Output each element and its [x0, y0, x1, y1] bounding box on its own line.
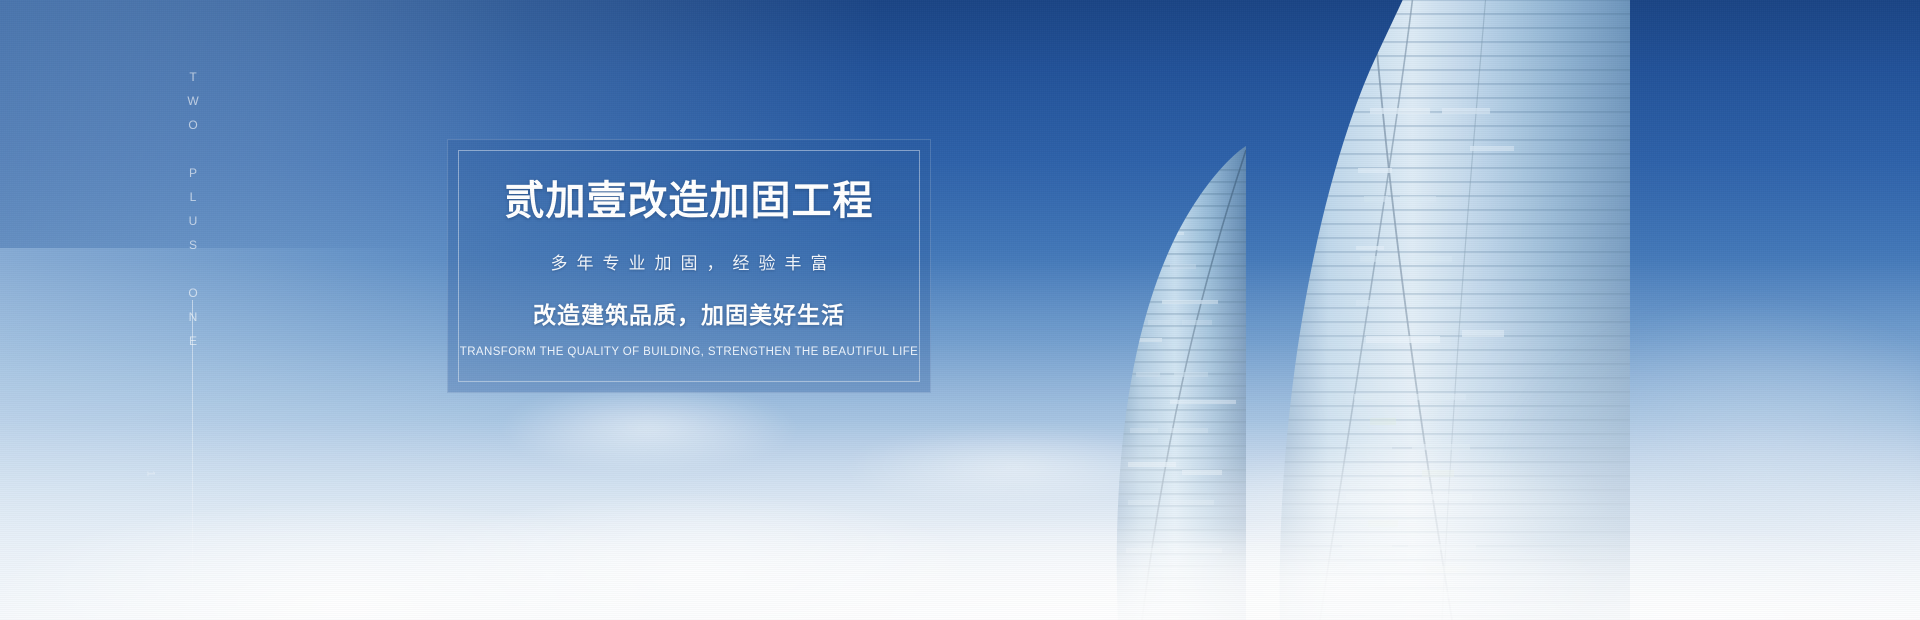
tagline: 改造建筑品质，加固美好生活: [533, 296, 845, 330]
brand-vertical-rule: [192, 300, 193, 620]
hero-text-panel: 贰加壹改造加固工程 多年专业加固，经验丰富 改造建筑品质，加固美好生活 TRAN…: [447, 139, 931, 393]
headline: 贰加壹改造加固工程: [505, 179, 874, 223]
cloud-layer: [0, 260, 1920, 620]
english-tagline: TRANSFORM THE QUALITY OF BUILDING, STREN…: [460, 346, 918, 358]
panel-content: 贰加壹改造加固工程 多年专业加固，经验丰富 改造建筑品质，加固美好生活 TRAN…: [448, 140, 930, 392]
brand-mark: 1: [145, 470, 157, 477]
subheadline: 多年专业加固，经验丰富: [542, 249, 837, 274]
hero-banner: TWO PLUS ONE 1 贰加壹改造加固工程 多年专业加固，经验丰富 改造建…: [0, 0, 1920, 620]
brand-vertical: TWO PLUS ONE: [178, 70, 208, 358]
brand-vertical-label: TWO PLUS ONE: [187, 70, 199, 358]
